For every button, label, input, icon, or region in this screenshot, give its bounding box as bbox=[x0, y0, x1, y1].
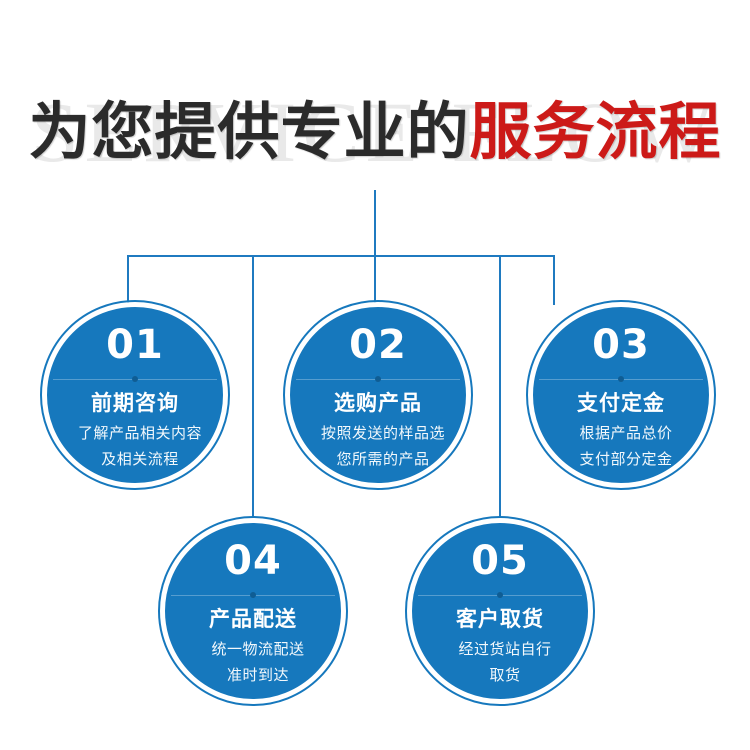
step-desc-line-3a: 根据产品总价 bbox=[537, 421, 714, 447]
step-number-3: 03 bbox=[533, 321, 709, 369]
step-title-4: 产品配送 bbox=[165, 605, 341, 635]
connector-drop-step-5 bbox=[499, 255, 501, 520]
step-divider-dot-3 bbox=[618, 376, 624, 382]
step-number-2: 02 bbox=[290, 321, 466, 369]
step-divider-dot-4 bbox=[250, 592, 256, 598]
title-red-part: 服务流程 bbox=[470, 95, 722, 168]
step-divider-dot-1 bbox=[132, 376, 138, 382]
connector-drop-step-4 bbox=[252, 255, 254, 520]
step-number-1: 01 bbox=[47, 321, 223, 369]
step-desc-line-3b: 支付部分定金 bbox=[537, 447, 714, 473]
connector-drop-step-1 bbox=[127, 255, 129, 305]
step-description-5: 经过货站自行 取货 bbox=[416, 637, 593, 689]
step-description-4: 统一物流配送 准时到达 bbox=[169, 637, 346, 689]
step-title-3: 支付定金 bbox=[533, 389, 709, 419]
step-description-2: 按照发送的样品选 您所需的产品 bbox=[294, 421, 471, 473]
step-desc-line-2b: 您所需的产品 bbox=[294, 447, 471, 473]
step-node-3[interactable]: 03 支付定金 根据产品总价 支付部分定金 bbox=[528, 302, 714, 488]
step-desc-line-5b: 取货 bbox=[416, 663, 593, 689]
connector-drop-step-3 bbox=[553, 255, 555, 305]
connector-trunk-vertical bbox=[374, 190, 376, 256]
connector-drop-step-2 bbox=[374, 255, 376, 305]
service-flow-diagram: SERVICE FLOW 为您提供专业的服务流程 01 前期咨询 了解产品相关内… bbox=[0, 0, 750, 750]
step-divider-dot-5 bbox=[497, 592, 503, 598]
step-desc-line-2a: 按照发送的样品选 bbox=[294, 421, 471, 447]
step-desc-line-4b: 准时到达 bbox=[169, 663, 346, 689]
step-number-5: 05 bbox=[412, 537, 588, 585]
step-desc-line-1b: 及相关流程 bbox=[51, 447, 228, 473]
step-node-1[interactable]: 01 前期咨询 了解产品相关内容 及相关流程 bbox=[42, 302, 228, 488]
step-desc-line-4a: 统一物流配送 bbox=[169, 637, 346, 663]
step-node-5[interactable]: 05 客户取货 经过货站自行 取货 bbox=[407, 518, 593, 704]
step-desc-line-5a: 经过货站自行 bbox=[416, 637, 593, 663]
step-divider-dot-2 bbox=[375, 376, 381, 382]
step-description-1: 了解产品相关内容 及相关流程 bbox=[51, 421, 228, 473]
connector-horizontal-bar bbox=[127, 255, 554, 257]
title-dark-part: 为您提供专业的 bbox=[28, 95, 469, 168]
title-main: 为您提供专业的服务流程 bbox=[0, 90, 750, 174]
step-title-2: 选购产品 bbox=[290, 389, 466, 419]
step-node-4[interactable]: 04 产品配送 统一物流配送 准时到达 bbox=[160, 518, 346, 704]
step-description-3: 根据产品总价 支付部分定金 bbox=[537, 421, 714, 473]
page-title: SERVICE FLOW 为您提供专业的服务流程 bbox=[0, 82, 750, 182]
step-desc-line-1a: 了解产品相关内容 bbox=[51, 421, 228, 447]
step-node-2[interactable]: 02 选购产品 按照发送的样品选 您所需的产品 bbox=[285, 302, 471, 488]
step-number-4: 04 bbox=[165, 537, 341, 585]
step-title-5: 客户取货 bbox=[412, 605, 588, 635]
step-title-1: 前期咨询 bbox=[47, 389, 223, 419]
